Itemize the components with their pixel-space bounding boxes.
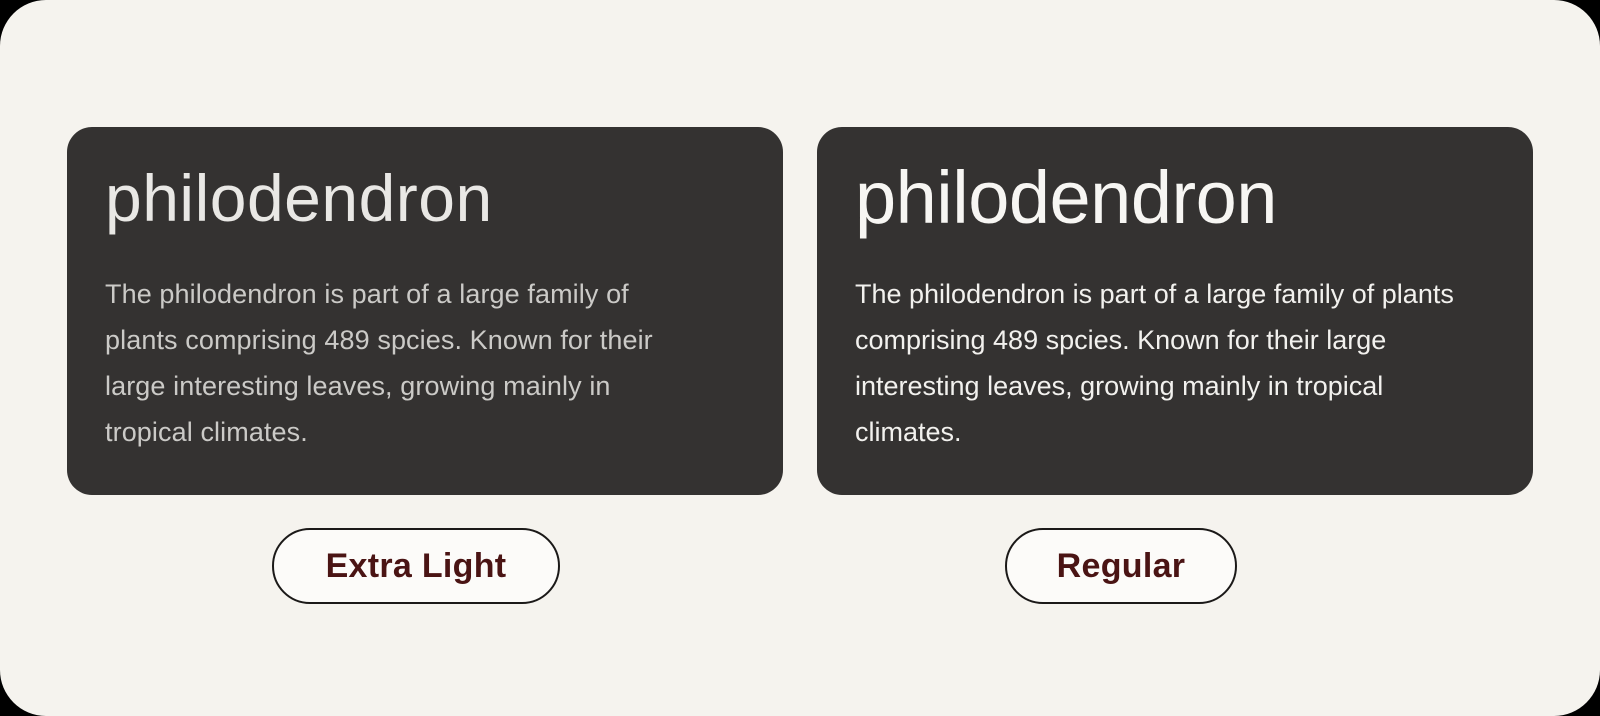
card-body-extra-light: The philodendron is part of a large fami…: [105, 271, 705, 455]
font-specimen-cards: philodendron The philodendron is part of…: [67, 127, 1533, 495]
weight-button-extra-light[interactable]: Extra Light: [272, 528, 560, 604]
weight-label-buttons: Extra Light Regular: [67, 528, 1533, 606]
card-title-extra-light: philodendron: [105, 161, 745, 231]
page-root: philodendron The philodendron is part of…: [0, 0, 1600, 716]
specimen-card-extra-light: philodendron The philodendron is part of…: [67, 127, 783, 495]
specimen-card-regular: philodendron The philodendron is part of…: [817, 127, 1533, 495]
card-title-regular: philodendron: [855, 161, 1495, 235]
card-body-regular: The philodendron is part of a large fami…: [855, 271, 1475, 455]
weight-button-regular[interactable]: Regular: [1005, 528, 1237, 604]
